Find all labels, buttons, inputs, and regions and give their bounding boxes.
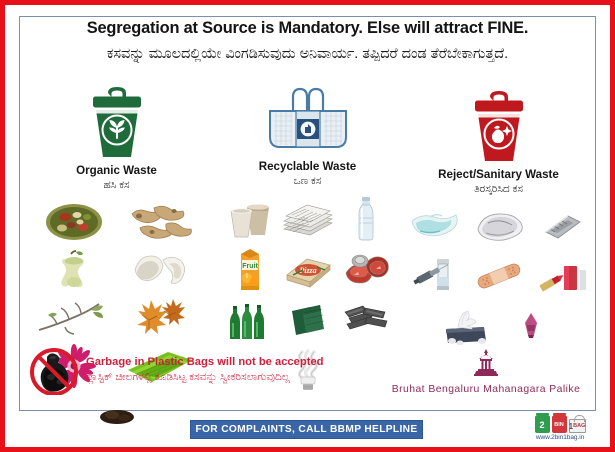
item-cosmetics: [532, 253, 594, 298]
headline-english: Segregation at Source is Mandatory. Else…: [19, 19, 596, 38]
plastic-note-english: Garbage in Plastic Bags will not be acce…: [86, 356, 364, 369]
logo-red-bin-icon: BIN: [552, 416, 567, 433]
logo-icon-row: 2 BIN 1BAG: [519, 413, 601, 433]
item-bandaid: [468, 253, 530, 298]
logo-bag-icon: 1BAG: [569, 419, 586, 433]
item-eggshells: [118, 248, 202, 292]
item-juice-carton: Fruit: [222, 246, 278, 292]
category-column-recyclable: Recyclable Waste ಒಣ ಕಸ: [212, 85, 403, 385]
headline-kannada: ಕಸವನ್ನು ಮೂಲದಲ್ಲಿಯೇ ವಿಂಗಡಿಸುವುದು ಅನಿವಾರ್ಯ…: [19, 45, 596, 63]
item-food-plate: [32, 200, 116, 244]
item-chicken-bones: [118, 200, 202, 244]
svg-text:Fruit: Fruit: [242, 263, 258, 270]
item-crushed-cans: [338, 246, 394, 292]
item-cloth-rags: [280, 296, 336, 342]
reject-label-kannada: ತಿರಸ್ಕರಿಸಿದ ಕಸ: [474, 184, 523, 196]
waste-segregation-poster: Segregation at Source is Mandatory. Else…: [0, 0, 615, 452]
waste-category-columns: Organic Waste ಹಸಿ ಕಸ: [21, 85, 594, 385]
item-glass-bottles: [222, 296, 278, 342]
organic-bin-graphic: [81, 85, 153, 159]
logo-green-bin-icon: 2: [535, 416, 550, 433]
recyclable-bag-graphic: [262, 85, 354, 155]
item-pizza-box: Pizza: [280, 246, 336, 292]
plastic-note-kannada: ಪ್ಲಾಸ್ಟಿಕ್ ಚೀಲಗಳಲ್ಲಿ ಕೂಡಿಸಿಟ್ಟ ಕಸವನ್ನು ಸ…: [86, 371, 364, 384]
category-column-reject: Reject/Sanitary Waste ತಿರಸ್ಕರಿಸಿದ ಕಸ: [403, 85, 594, 385]
logo-website-url[interactable]: www.2bin1bag.in: [519, 434, 601, 441]
recyclable-label-kannada: ಒಣ ಕಸ: [294, 176, 322, 188]
no-plastic-bag-note: Garbage in Plastic Bags will not be acce…: [29, 345, 364, 395]
recyclable-label-english: Recyclable Waste: [259, 161, 357, 174]
organic-label-kannada: ಹಸಿ ಕಸ: [103, 180, 129, 192]
item-twig-branch: [32, 296, 116, 340]
item-metal-scrap: [338, 296, 394, 342]
category-column-organic: Organic Waste ಹಸಿ ಕಸ: [21, 85, 212, 385]
item-apple-core: [32, 248, 116, 292]
reject-bin-graphic: [463, 85, 535, 163]
bbmp-branding: Bruhat Bengaluru Mahanagara Palike: [386, 348, 586, 395]
reject-label-english: Reject/Sanitary Waste: [438, 169, 559, 182]
blue-bag-icon: [262, 85, 354, 155]
item-tea-leaves: [75, 392, 159, 436]
bbmp-emblem-icon: [471, 348, 501, 378]
item-broken-glass: [500, 302, 562, 347]
item-razor-blade: [532, 204, 594, 249]
item-diaper: [404, 204, 466, 249]
logo-bag-text: BAG: [573, 423, 585, 429]
item-plastic-bottle: [338, 196, 394, 242]
organic-label-english: Organic Waste: [76, 165, 157, 178]
red-bin-icon: [463, 89, 535, 163]
item-paper-cups: [222, 196, 278, 242]
no-plastic-bag-icon: [29, 345, 79, 395]
item-syringe-vial: [404, 253, 466, 298]
item-dry-leaves: [118, 296, 202, 340]
bbmp-name-text: Bruhat Bengaluru Mahanagara Palike: [386, 384, 586, 395]
item-sanitary-napkin: [468, 204, 530, 249]
reject-items-grid: [403, 204, 594, 347]
helpline-banner[interactable]: FOR COMPLAINTS, CALL BBMP HELPLINE: [190, 420, 423, 439]
2bin1bag-logo[interactable]: 2 BIN 1BAG www.2bin1bag.in: [519, 413, 601, 441]
item-tissue-box: [436, 302, 498, 347]
organic-items-grid: [21, 200, 212, 436]
green-bin-icon: [81, 85, 153, 159]
item-newspaper-stack: [280, 196, 336, 242]
poster-header: Segregation at Source is Mandatory. Else…: [19, 19, 596, 63]
